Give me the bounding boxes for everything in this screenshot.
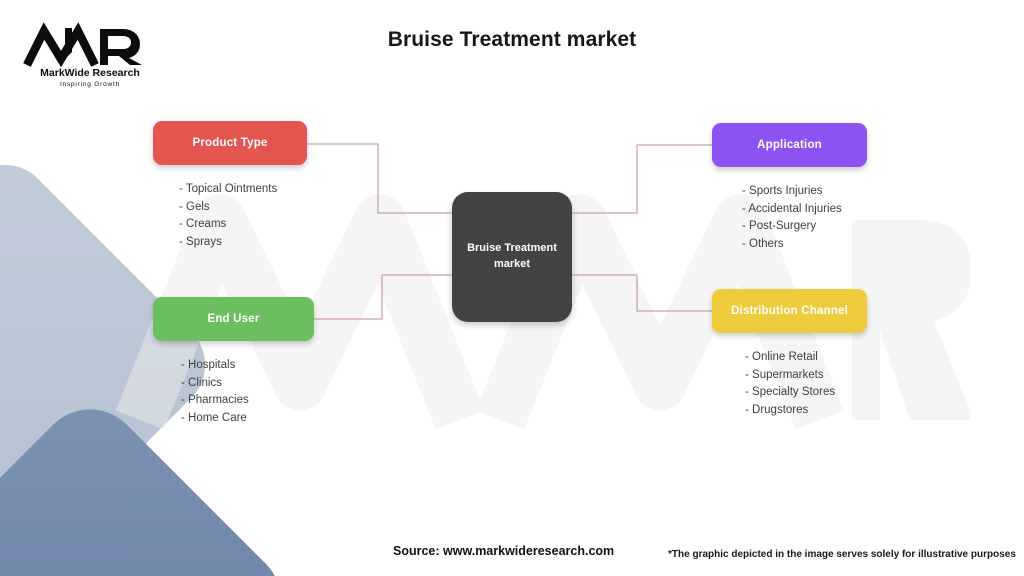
- category-chip-application[interactable]: Application: [712, 123, 867, 167]
- list-item: - Specialty Stores: [745, 384, 867, 402]
- center-node: Bruise Treatment market: [452, 192, 572, 322]
- logo-name: MarkWide Research: [40, 67, 140, 79]
- infographic-canvas: MarkWide Research Inspiring Growth Bruis…: [0, 0, 1024, 576]
- category-chip-product-type[interactable]: Product Type: [153, 121, 307, 165]
- list-item: - Accidental Injuries: [742, 201, 867, 219]
- list-item: - Sports Injuries: [742, 183, 867, 201]
- list-item: - Clinics: [181, 375, 314, 393]
- list-item: - Supermarkets: [745, 367, 867, 385]
- category-label-product-type: Product Type: [192, 137, 267, 149]
- list-item: - Hospitals: [181, 357, 314, 375]
- category-label-distribution-channel: Distribution Channel: [731, 305, 848, 317]
- footer-source: Source: www.markwideresearch.com: [393, 544, 614, 558]
- list-item: - Creams: [179, 216, 307, 234]
- category-distribution-channel: Distribution Channel - Online Retail - S…: [712, 289, 867, 419]
- category-items-application: - Sports Injuries - Accidental Injuries …: [712, 183, 867, 253]
- list-item: - Drugstores: [745, 402, 867, 420]
- category-items-product-type: - Topical Ointments - Gels - Creams - Sp…: [153, 181, 307, 251]
- logo-tagline: Inspiring Growth: [60, 81, 120, 88]
- center-node-label: Bruise Treatment market: [464, 241, 560, 273]
- category-product-type: Product Type - Topical Ointments - Gels …: [153, 121, 307, 251]
- category-items-distribution-channel: - Online Retail - Supermarkets - Special…: [712, 349, 867, 419]
- footer-disclaimer: *The graphic depicted in the image serve…: [668, 549, 1016, 560]
- list-item: - Post-Surgery: [742, 218, 867, 236]
- category-label-end-user: End User: [207, 313, 259, 325]
- list-item: - Others: [742, 236, 867, 254]
- page-title: Bruise Treatment market: [0, 28, 1024, 52]
- list-item: - Online Retail: [745, 349, 867, 367]
- list-item: - Pharmacies: [181, 392, 314, 410]
- category-application: Application - Sports Injuries - Accident…: [712, 123, 867, 253]
- category-label-application: Application: [757, 139, 822, 151]
- list-item: - Gels: [179, 199, 307, 217]
- list-item: - Sprays: [179, 234, 307, 252]
- category-items-end-user: - Hospitals - Clinics - Pharmacies - Hom…: [153, 357, 314, 427]
- category-chip-end-user[interactable]: End User: [153, 297, 314, 341]
- list-item: - Home Care: [181, 410, 314, 428]
- list-item: - Topical Ointments: [179, 181, 307, 199]
- category-end-user: End User - Hospitals - Clinics - Pharmac…: [153, 297, 314, 427]
- category-chip-distribution-channel[interactable]: Distribution Channel: [712, 289, 867, 333]
